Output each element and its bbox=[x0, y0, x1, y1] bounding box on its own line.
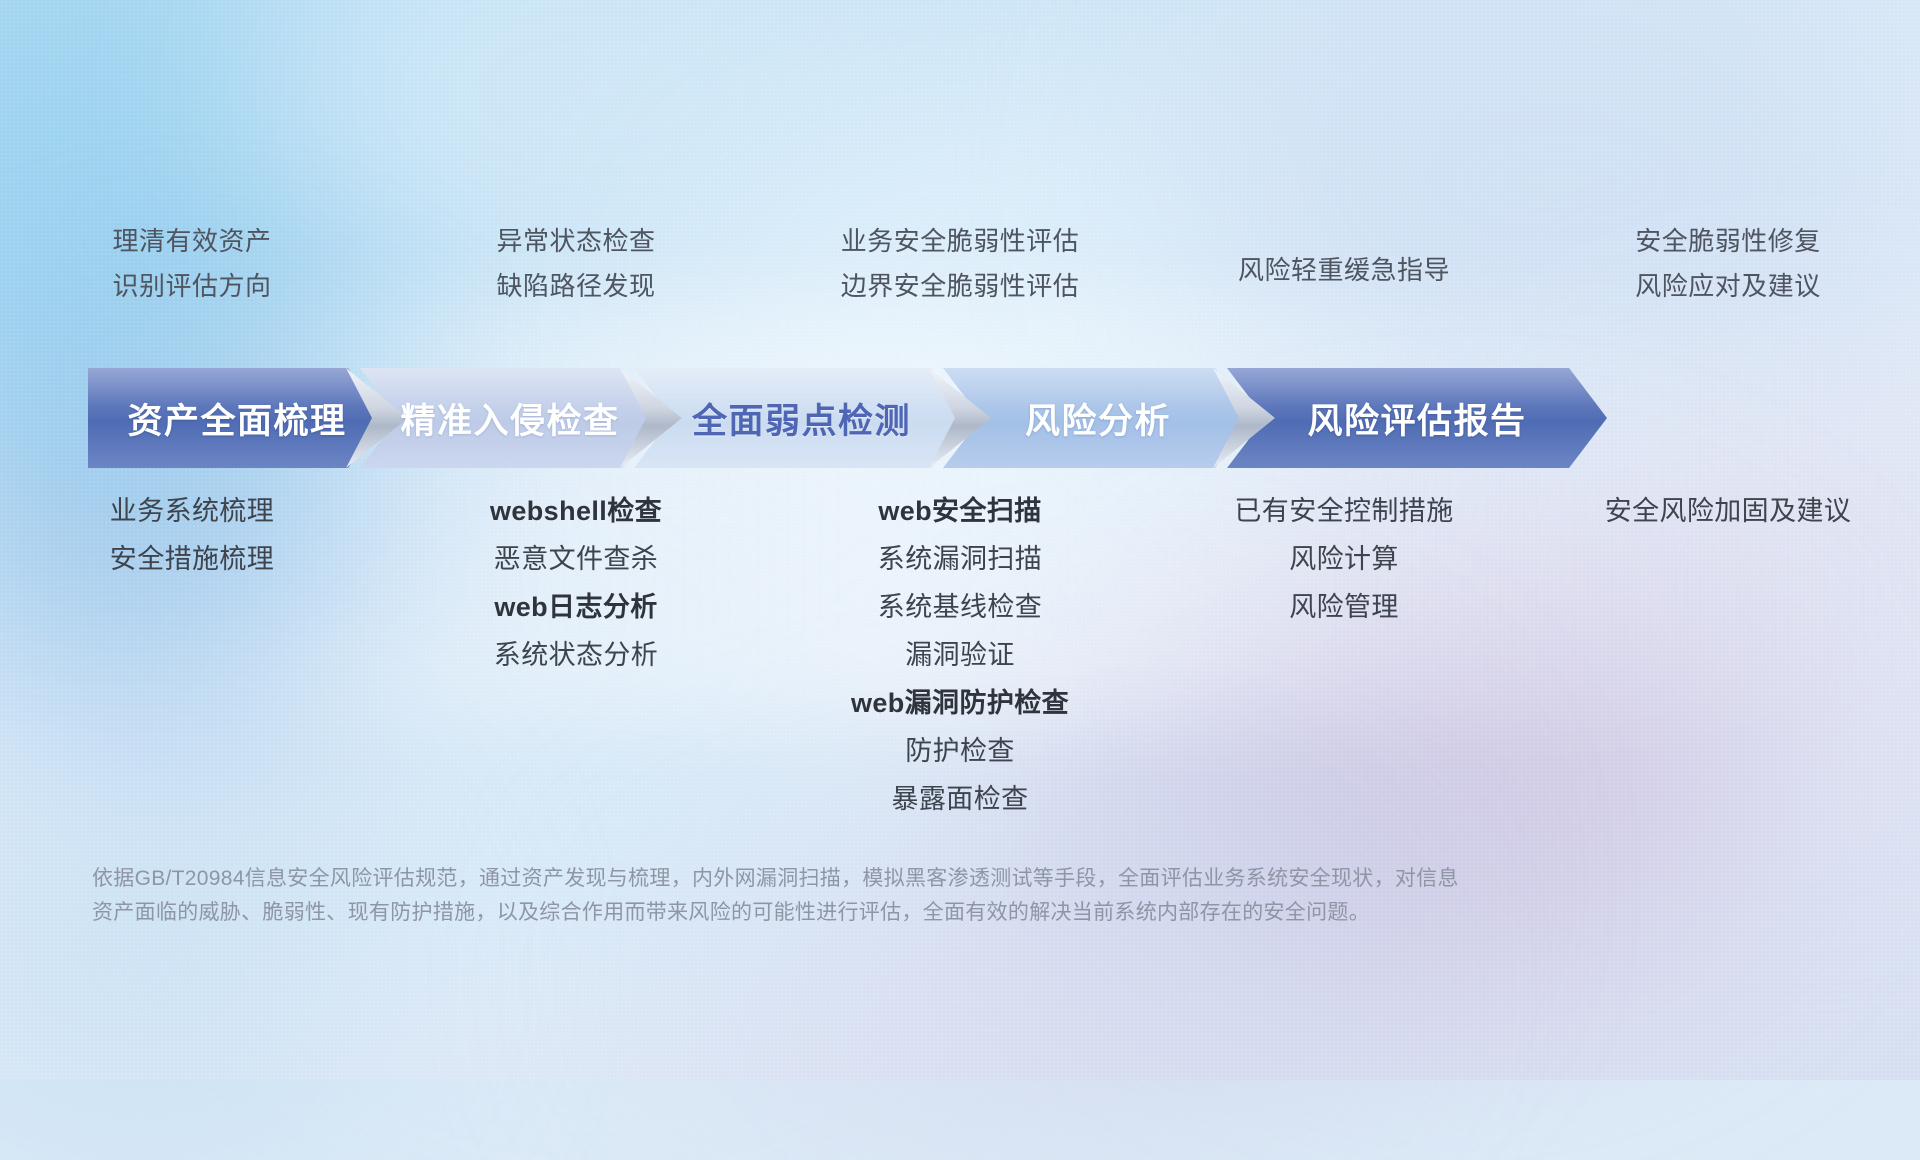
list-item: webshell检查 bbox=[490, 498, 662, 525]
list-item: 系统漏洞扫描 bbox=[878, 546, 1042, 573]
top-captions-assessment-report: 安全脆弱性修复 风险应对及建议 bbox=[1536, 228, 1920, 318]
list-item: 暴露面检查 bbox=[892, 786, 1029, 813]
stage-label: 资产全面梳理 bbox=[127, 393, 346, 444]
top-captions-weakness-detection: 业务安全脆弱性评估 边界安全脆弱性评估 bbox=[768, 228, 1152, 318]
list-item: 风险管理 bbox=[1289, 594, 1399, 621]
footer-line-2: 资产面临的威胁、脆弱性、现有防护措施，以及综合作用而带来风险的可能性进行评估，全… bbox=[92, 896, 1592, 930]
top-caption: 风险轻重缓急指导 bbox=[1238, 257, 1450, 283]
top-caption: 理清有效资产 bbox=[112, 228, 271, 254]
list-item: 系统基线检查 bbox=[878, 594, 1042, 621]
stage-arrow-asset-inventory[interactable]: 资产全面梳理 bbox=[88, 368, 386, 468]
list-item: web安全扫描 bbox=[878, 498, 1041, 525]
list-item: 恶意文件查杀 bbox=[494, 546, 658, 573]
top-captions-risk-analysis: 风险轻重缓急指导 bbox=[1152, 228, 1536, 318]
list-item: web漏洞防护检查 bbox=[851, 690, 1069, 717]
stage-arrow-weakness-detection[interactable]: 全面弱点检测 bbox=[634, 368, 969, 468]
top-captions-asset-inventory: 理清有效资产 识别评估方向 bbox=[0, 228, 384, 318]
stage-label: 精准入侵检查 bbox=[400, 393, 619, 444]
top-caption: 边界安全脆弱性评估 bbox=[841, 273, 1080, 299]
list-item: web日志分析 bbox=[494, 594, 657, 621]
bottom-list-weakness-detection: web安全扫描 系统漏洞扫描 系统基线检查 漏洞验证 web漏洞防护检查 防护检… bbox=[768, 498, 1152, 834]
top-caption: 缺陷路径发现 bbox=[496, 273, 655, 299]
list-item: 风险计算 bbox=[1289, 546, 1399, 573]
bottom-list-asset-inventory: 业务系统梳理 安全措施梳理 bbox=[0, 498, 384, 834]
footer-line-1: 依据GB/T20984信息安全风险评估规范，通过资产发现与梳理，内外网漏洞扫描，… bbox=[92, 862, 1592, 896]
stage-label: 全面弱点检测 bbox=[692, 393, 911, 444]
top-captions-intrusion-check: 异常状态检查 缺陷路径发现 bbox=[384, 228, 768, 318]
top-caption: 识别评估方向 bbox=[112, 273, 271, 299]
list-item: 防护检查 bbox=[905, 738, 1015, 765]
top-caption: 异常状态检查 bbox=[496, 228, 655, 254]
bottom-list-risk-analysis: 已有安全控制措施 风险计算 风险管理 bbox=[1152, 498, 1536, 834]
list-item: 业务系统梳理 bbox=[110, 498, 274, 525]
top-caption: 业务安全脆弱性评估 bbox=[841, 228, 1080, 254]
stage-arrow-band: 资产全面梳理 精准入侵检查 全面弱点检测 风险分析 风险评估报告 bbox=[88, 368, 1880, 468]
stage-label: 风险分析 bbox=[1025, 393, 1171, 444]
bottom-list-assessment-report: 安全风险加固及建议 bbox=[1536, 498, 1920, 834]
top-caption: 风险应对及建议 bbox=[1635, 273, 1821, 299]
footer-description: 依据GB/T20984信息安全风险评估规范，通过资产发现与梳理，内外网漏洞扫描，… bbox=[92, 862, 1592, 930]
list-item: 系统状态分析 bbox=[494, 642, 658, 669]
top-caption: 安全脆弱性修复 bbox=[1635, 228, 1821, 254]
list-item: 安全措施梳理 bbox=[110, 546, 274, 573]
bottom-lists-row: 业务系统梳理 安全措施梳理 webshell检查 恶意文件查杀 web日志分析 … bbox=[0, 498, 1920, 834]
list-item: 漏洞验证 bbox=[905, 642, 1015, 669]
list-item: 已有安全控制措施 bbox=[1234, 498, 1453, 525]
stage-label: 风险评估报告 bbox=[1307, 393, 1526, 444]
process-diagram: 理清有效资产 识别评估方向 异常状态检查 缺陷路径发现 业务安全脆弱性评估 边界… bbox=[0, 0, 1920, 1080]
stage-arrow-intrusion-check[interactable]: 精准入侵检查 bbox=[360, 368, 660, 468]
list-item: 安全风险加固及建议 bbox=[1605, 498, 1852, 525]
bottom-list-intrusion-check: webshell检查 恶意文件查杀 web日志分析 系统状态分析 bbox=[384, 498, 768, 834]
stage-arrow-assessment-report[interactable]: 风险评估报告 bbox=[1227, 368, 1607, 468]
top-captions-row: 理清有效资产 识别评估方向 异常状态检查 缺陷路径发现 业务安全脆弱性评估 边界… bbox=[0, 228, 1920, 318]
